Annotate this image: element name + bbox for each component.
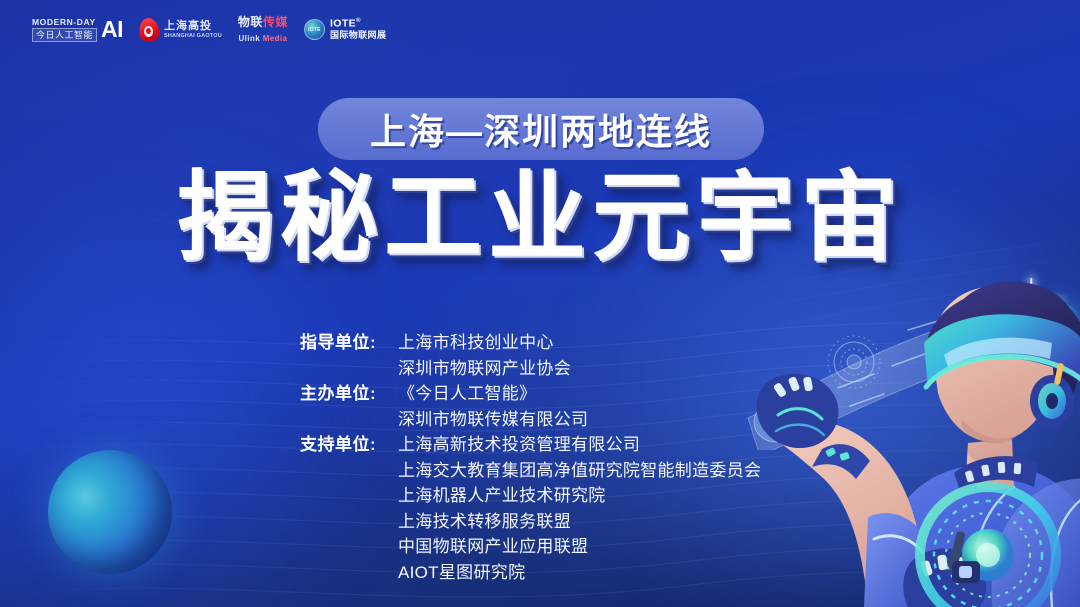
logo-modern-day-ai-text: MODERN-DAY 今日人工智能 xyxy=(32,18,97,42)
logo-iote-registered-mark: ® xyxy=(356,18,361,24)
logo-shanghai-gaotou-en: SHANGHAI GAOTOU xyxy=(164,33,222,40)
credit-value: 上海技术转移服务联盟 xyxy=(398,509,761,535)
poster-canvas: MODERN-DAY 今日人工智能 AI 上海高投 SHANGHAI GAOTO… xyxy=(0,0,1080,607)
globe-icon: IOTE xyxy=(304,19,325,40)
logo-iote-text: IOTE® 国际物联网展 xyxy=(330,18,386,41)
page-title: 揭秘工业元宇宙 xyxy=(0,168,1080,266)
credit-values: 上海市科技创业中心 深圳市物联网产业协会 xyxy=(398,330,571,381)
credits-block: 指导单位: 上海市科技创业中心 深圳市物联网产业协会 主办单位: 《今日人工智能… xyxy=(300,330,761,585)
flame-icon xyxy=(139,18,159,42)
credit-group: 主办单位: 《今日人工智能》 深圳市物联传媒有限公司 xyxy=(300,381,761,432)
logo-ulink-media-en: Ulink Media xyxy=(239,34,288,44)
credit-value: 上海交大教育集团高净值研究院智能制造委员会 xyxy=(398,458,761,484)
credit-value: AIOT星图研究院 xyxy=(398,560,761,586)
credit-group: 指导单位: 上海市科技创业中心 深圳市物联网产业协会 xyxy=(300,330,761,381)
logo-iote[interactable]: IOTE IOTE® 国际物联网展 xyxy=(304,18,386,41)
logo-modern-day-ai-en: MODERN-DAY xyxy=(32,18,96,27)
credit-value: 深圳市物联传媒有限公司 xyxy=(398,407,588,433)
credit-values: 上海高新技术投资管理有限公司 上海交大教育集团高净值研究院智能制造委员会 上海机… xyxy=(398,432,761,585)
logo-shanghai-gaotou[interactable]: 上海高投 SHANGHAI GAOTOU xyxy=(139,18,222,42)
credit-value: 中国物联网产业应用联盟 xyxy=(398,534,761,560)
credit-group: 支持单位: 上海高新技术投资管理有限公司 上海交大教育集团高净值研究院智能制造委… xyxy=(300,432,761,585)
logo-ulink-media-en-part1: Ulink xyxy=(239,34,261,43)
subtitle-pill: 上海—深圳两地连线 xyxy=(318,98,764,160)
credit-value: 《今日人工智能》 xyxy=(398,381,588,407)
subtitle-text: 上海—深圳两地连线 xyxy=(370,103,712,155)
logo-shanghai-gaotou-text: 上海高投 SHANGHAI GAOTOU xyxy=(164,20,222,39)
credit-label: 指导单位: xyxy=(300,330,398,356)
logo-modern-day-ai-mark: AI xyxy=(101,18,123,41)
logo-ulink-media-cn-part2: 传媒 xyxy=(263,15,288,29)
logo-shanghai-gaotou-cn: 上海高投 xyxy=(164,20,222,32)
credit-label: 主办单位: xyxy=(300,381,398,407)
logo-ulink-media-cn: 物联传媒 xyxy=(238,16,288,29)
logo-iote-en: IOTE® xyxy=(330,18,386,30)
logo-bar: MODERN-DAY 今日人工智能 AI 上海高投 SHANGHAI GAOTO… xyxy=(32,16,386,44)
logo-ulink-media[interactable]: 物联传媒 Ulink Media xyxy=(238,16,288,44)
credit-value: 上海市科技创业中心 xyxy=(398,330,571,356)
logo-ulink-media-cn-part1: 物联 xyxy=(238,15,263,29)
credit-value: 深圳市物联网产业协会 xyxy=(398,356,571,382)
credit-value: 上海机器人产业技术研究院 xyxy=(398,483,761,509)
logo-modern-day-ai[interactable]: MODERN-DAY 今日人工智能 AI xyxy=(32,18,123,42)
logo-iote-cn: 国际物联网展 xyxy=(330,30,386,41)
credit-value: 上海高新技术投资管理有限公司 xyxy=(398,432,761,458)
logo-modern-day-ai-cn: 今日人工智能 xyxy=(32,28,97,42)
credit-label: 支持单位: xyxy=(300,432,398,458)
planet-sphere-large xyxy=(48,450,172,574)
logo-ulink-media-en-part2: Media xyxy=(263,34,288,43)
credit-values: 《今日人工智能》 深圳市物联传媒有限公司 xyxy=(398,381,588,432)
